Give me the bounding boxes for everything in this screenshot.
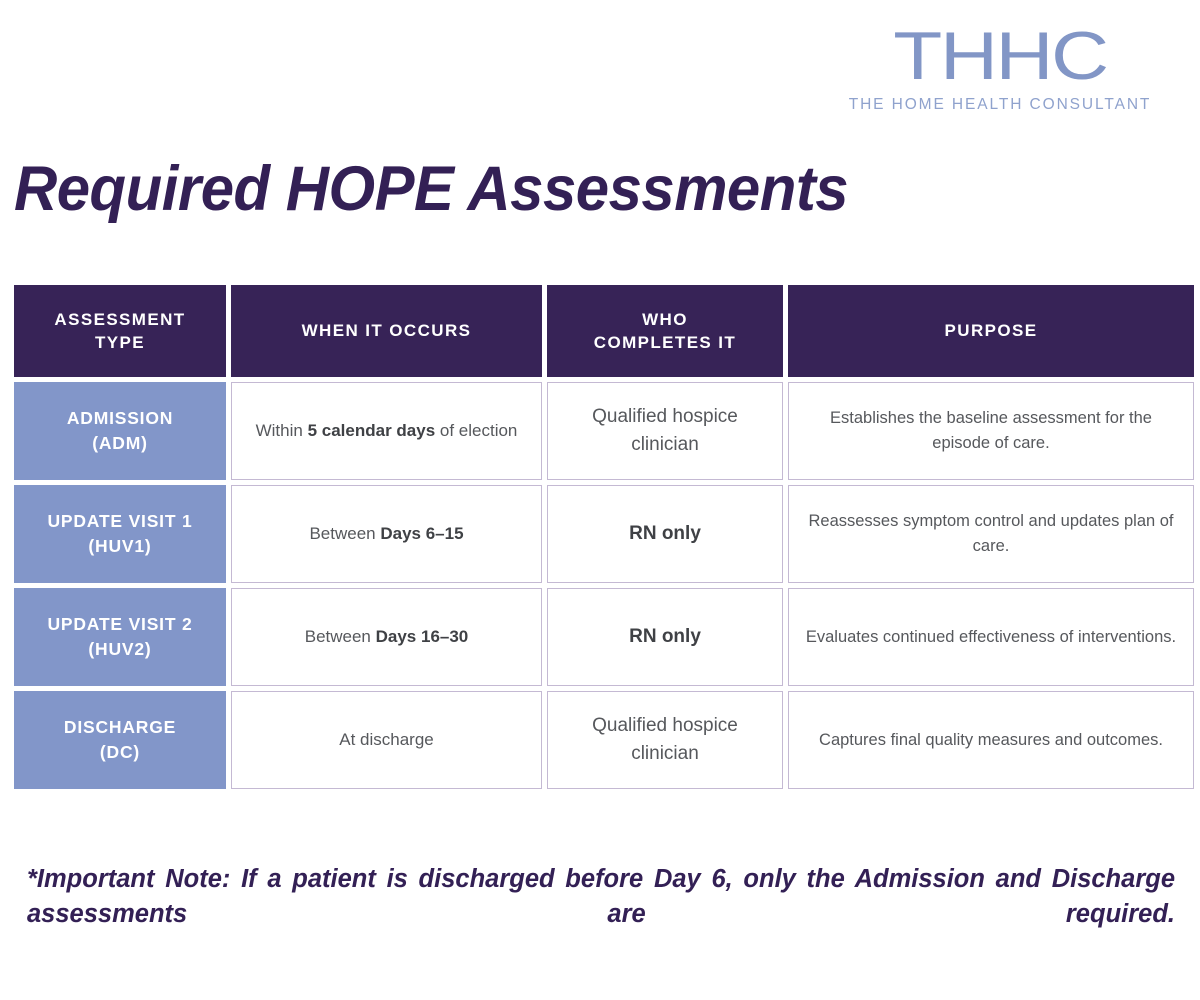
cell-assessment-type: ADMISSION (ADM) xyxy=(14,382,226,480)
who-text: RN only xyxy=(629,623,701,652)
type-label-line: UPDATE VISIT 1 xyxy=(47,509,192,534)
table-row: UPDATE VISIT 2 (HUV2) Between Days 16–30 xyxy=(14,588,1194,686)
logo-tagline: THE HOME HEALTH CONSULTANT xyxy=(830,96,1170,114)
header-line: COMPLETES IT xyxy=(594,331,736,354)
when-text-pre: Between xyxy=(305,627,376,646)
type-label-line: DISCHARGE xyxy=(64,715,176,740)
column-header-who-completes-it: WHO COMPLETES IT xyxy=(547,285,783,377)
when-text-pre: At discharge xyxy=(339,730,434,749)
type-label-line: (HUV2) xyxy=(47,637,192,662)
type-label-line: (ADM) xyxy=(67,431,173,456)
table-row: UPDATE VISIT 1 (HUV1) Between Days 6–15 … xyxy=(14,485,1194,583)
purpose-text: Reassesses symptom control and updates p… xyxy=(805,509,1177,559)
cell-who-completes-it: Qualified hospice clinician xyxy=(547,382,783,480)
table-header: ASSESSMENT TYPE WHEN IT OCCURS xyxy=(14,285,1194,377)
header-line: WHO xyxy=(594,308,736,331)
cell-assessment-type: DISCHARGE (DC) xyxy=(14,691,226,789)
header-line: PURPOSE xyxy=(945,319,1038,342)
cell-purpose: Establishes the baseline assessment for … xyxy=(788,382,1194,480)
header-line: WHEN IT OCCURS xyxy=(302,319,472,342)
table-row: DISCHARGE (DC) At discharge Qualified ho… xyxy=(14,691,1194,789)
column-header-when-it-occurs: WHEN IT OCCURS xyxy=(231,285,542,377)
when-text-post: of election xyxy=(435,421,517,440)
cell-assessment-type: UPDATE VISIT 2 (HUV2) xyxy=(14,588,226,686)
purpose-text: Evaluates continued effectiveness of int… xyxy=(806,625,1176,650)
type-label-line: (DC) xyxy=(64,740,176,765)
purpose-text: Captures final quality measures and outc… xyxy=(819,728,1163,753)
type-label-line: UPDATE VISIT 2 xyxy=(47,612,192,637)
table-header-row: ASSESSMENT TYPE WHEN IT OCCURS xyxy=(14,285,1194,377)
cell-when-it-occurs: Between Days 6–15 xyxy=(231,485,542,583)
table-row: ADMISSION (ADM) Within 5 calendar days o… xyxy=(14,382,1194,480)
important-note: *Important Note: If a patient is dischar… xyxy=(27,862,1175,968)
header-line: TYPE xyxy=(54,331,185,354)
infographic-page: THHC THE HOME HEALTH CONSULTANT Required… xyxy=(0,0,1200,1000)
brand-logo: THHC THE HOME HEALTH CONSULTANT xyxy=(830,24,1170,114)
who-text: Qualified hospice clinician xyxy=(564,403,766,460)
type-label-line: (HUV1) xyxy=(47,534,192,559)
cell-who-completes-it: RN only xyxy=(547,588,783,686)
when-text-pre: Between xyxy=(309,524,380,543)
when-text-strong: 5 calendar days xyxy=(308,421,436,440)
column-header-assessment-type: ASSESSMENT TYPE xyxy=(14,285,226,377)
cell-purpose: Evaluates continued effectiveness of int… xyxy=(788,588,1194,686)
cell-who-completes-it: RN only xyxy=(547,485,783,583)
type-label-line: ADMISSION xyxy=(67,406,173,431)
cell-purpose: Reassesses symptom control and updates p… xyxy=(788,485,1194,583)
table-body: ADMISSION (ADM) Within 5 calendar days o… xyxy=(14,382,1194,789)
cell-when-it-occurs: Within 5 calendar days of election xyxy=(231,382,542,480)
who-text: Qualified hospice clinician xyxy=(564,712,766,769)
cell-when-it-occurs: Between Days 16–30 xyxy=(231,588,542,686)
purpose-text: Establishes the baseline assessment for … xyxy=(805,406,1177,456)
assessments-table: ASSESSMENT TYPE WHEN IT OCCURS xyxy=(9,280,1199,794)
who-text: RN only xyxy=(629,520,701,549)
cell-when-it-occurs: At discharge xyxy=(231,691,542,789)
when-text-pre: Within xyxy=(256,421,308,440)
when-text-strong: Days 16–30 xyxy=(376,627,469,646)
page-title: Required HOPE Assessments xyxy=(14,153,848,225)
when-text-strong: Days 6–15 xyxy=(380,524,463,543)
logo-wordmark-icon: THHC xyxy=(799,24,1200,89)
cell-purpose: Captures final quality measures and outc… xyxy=(788,691,1194,789)
column-header-purpose: PURPOSE xyxy=(788,285,1194,377)
header-line: ASSESSMENT xyxy=(54,308,185,331)
cell-who-completes-it: Qualified hospice clinician xyxy=(547,691,783,789)
cell-assessment-type: UPDATE VISIT 1 (HUV1) xyxy=(14,485,226,583)
